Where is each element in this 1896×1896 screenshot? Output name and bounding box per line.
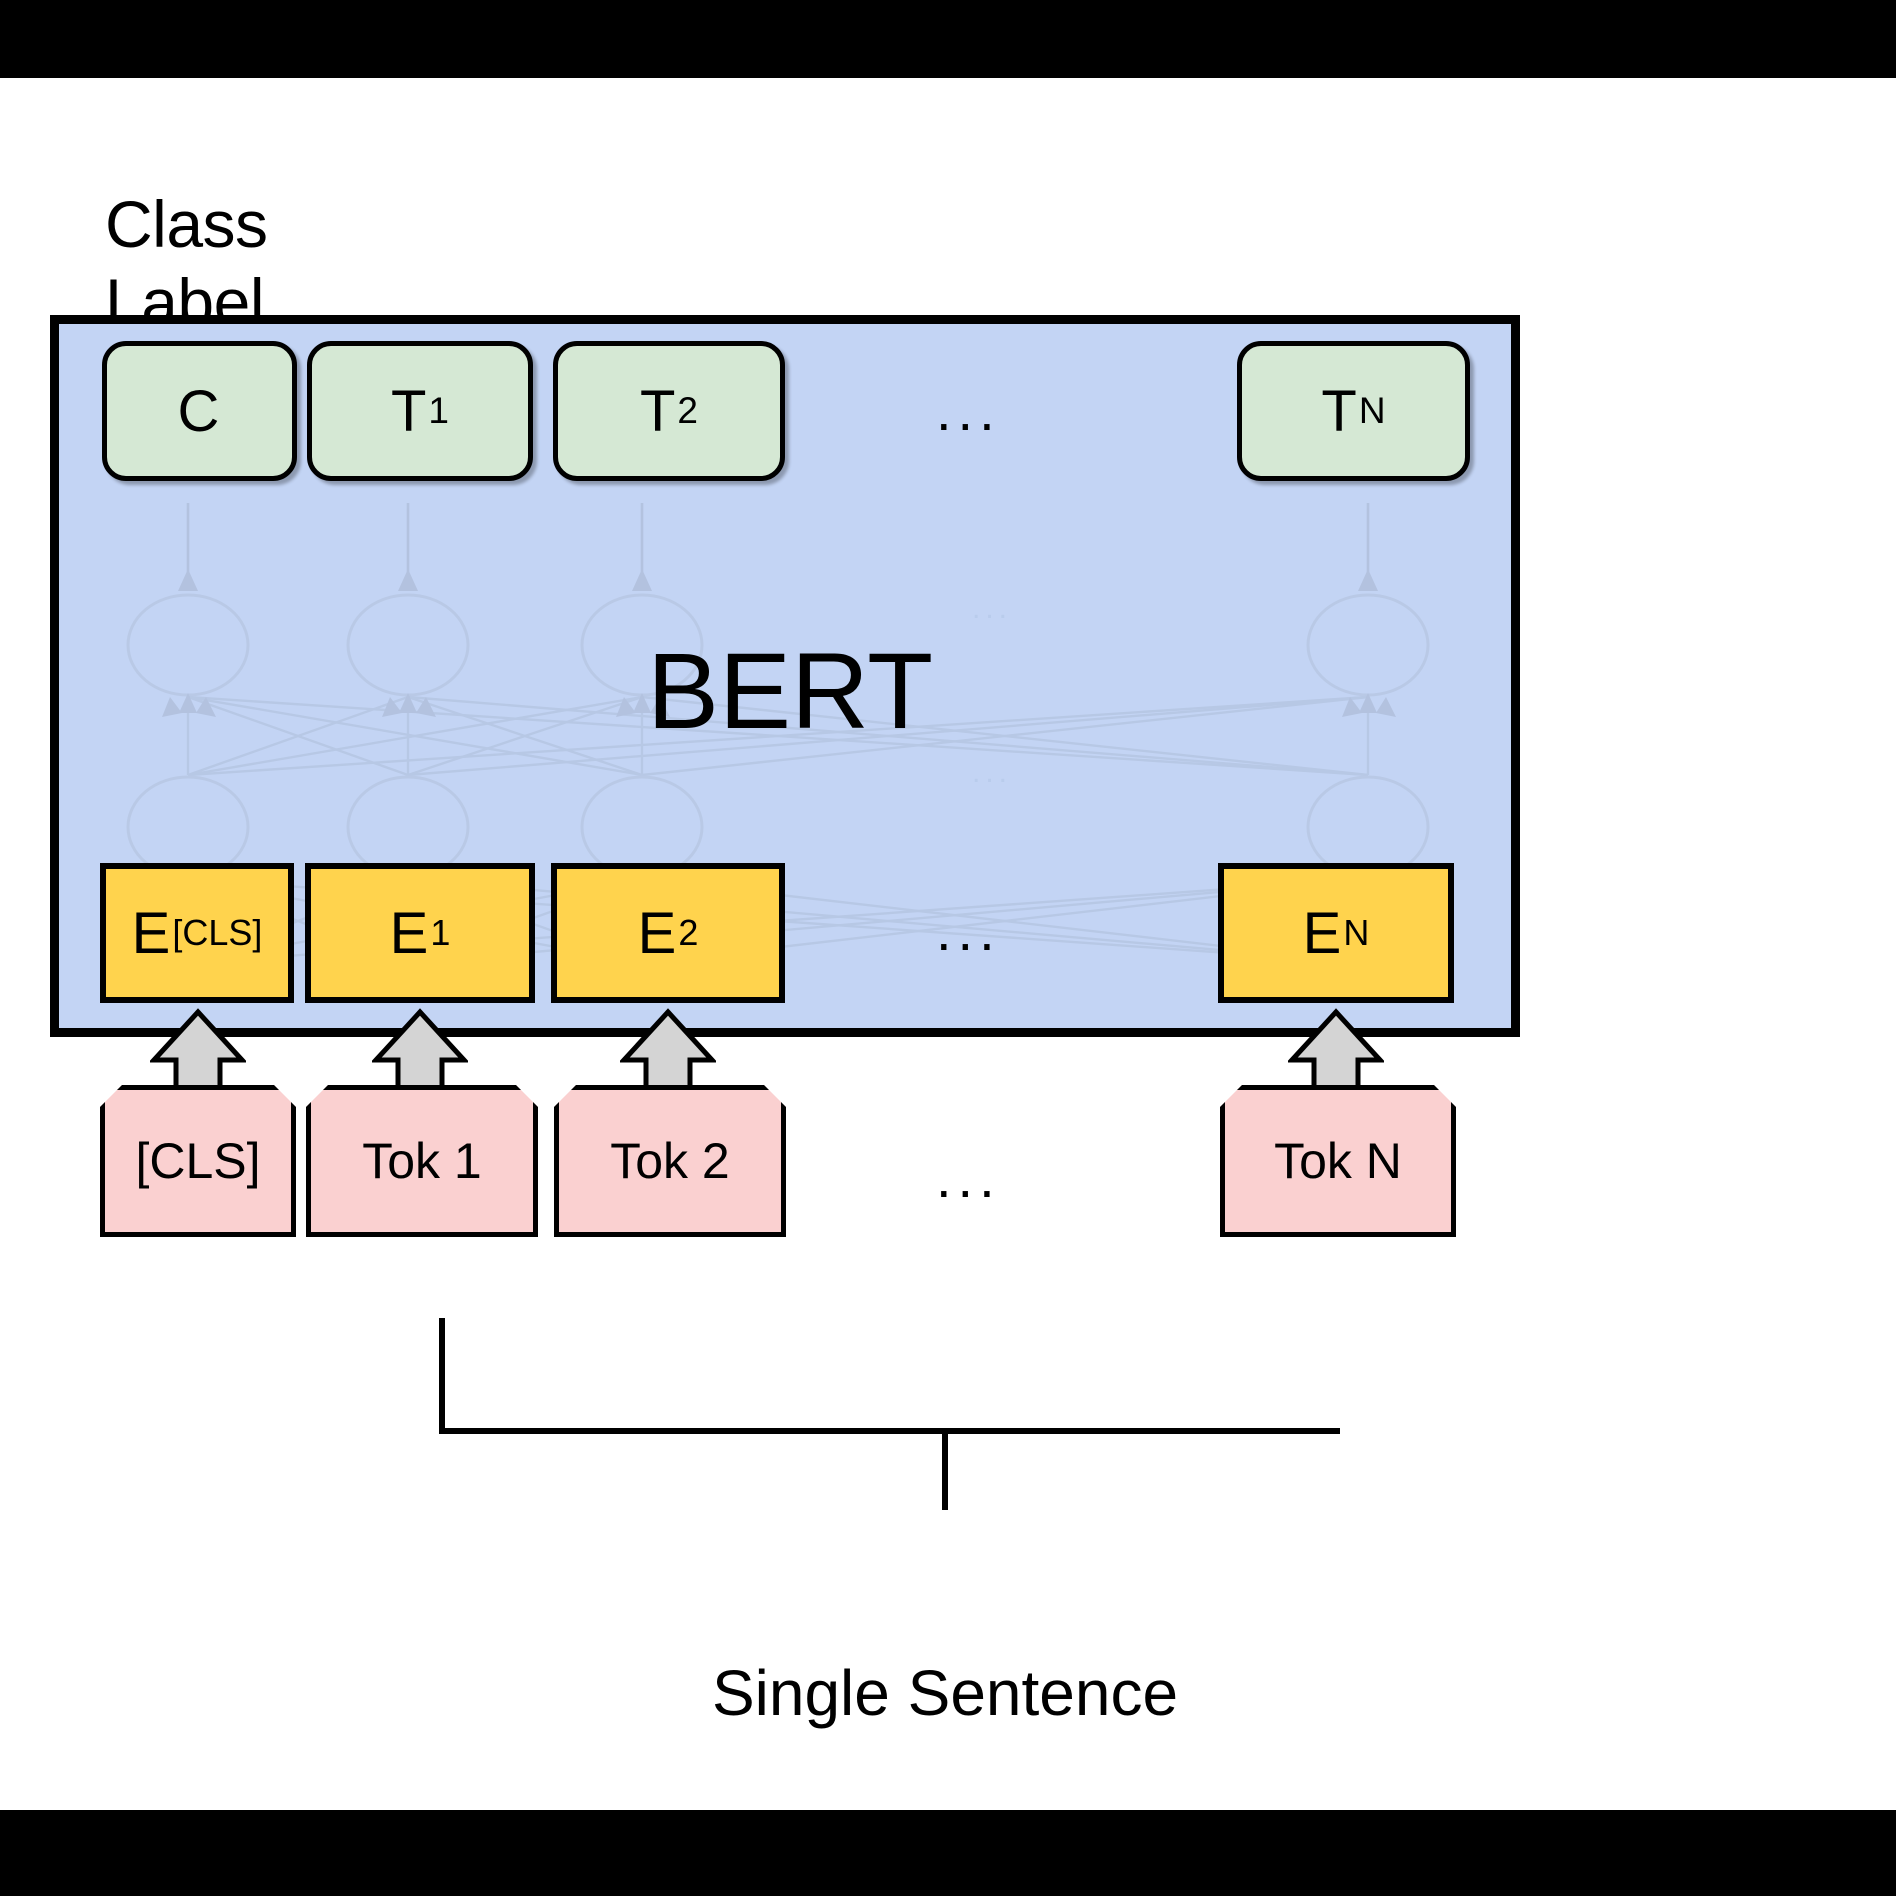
- output-box-c-base: C: [178, 378, 220, 445]
- output-row-ellipsis: ...: [936, 383, 1001, 439]
- sentence-bracket: [380, 1318, 1440, 1518]
- network-ellipsis-upper: ...: [972, 594, 1012, 624]
- output-box-t2-base: T: [640, 378, 675, 445]
- output-box-t2: T2: [553, 341, 785, 481]
- token-box-n-label: Tok N: [1274, 1132, 1402, 1190]
- token-box-cls-label: [CLS]: [135, 1132, 260, 1190]
- output-box-t2-sub: 2: [677, 390, 698, 432]
- output-box-tn: TN: [1237, 341, 1470, 481]
- token-box-1-label: Tok 1: [362, 1132, 482, 1190]
- token-box-cls: [CLS]: [100, 1085, 296, 1237]
- output-box-t1-sub: 1: [428, 390, 449, 432]
- embedding-box-en: EN: [1218, 863, 1454, 1003]
- embedding-box-cls-sub: [CLS]: [172, 912, 262, 954]
- output-box-t1-base: T: [391, 378, 426, 445]
- bert-model-label: BERT: [640, 628, 940, 753]
- embedding-box-e2-base: E: [638, 900, 677, 967]
- embedding-box-cls-base: E: [132, 900, 171, 967]
- token-box-2: Tok 2: [554, 1085, 786, 1237]
- embedding-row-ellipsis: ...: [936, 903, 1001, 959]
- output-box-tn-base: T: [1321, 378, 1356, 445]
- figure-canvas: Class Label: [0, 78, 1896, 1810]
- output-box-c: C: [102, 341, 297, 481]
- figure-root: Class Label: [0, 0, 1896, 1896]
- token-row-ellipsis: ...: [936, 1150, 1001, 1206]
- embedding-box-cls: E[CLS]: [100, 863, 294, 1003]
- output-box-t1: T1: [307, 341, 533, 481]
- embedding-box-e1: E1: [305, 863, 535, 1003]
- token-box-2-label: Tok 2: [610, 1132, 730, 1190]
- class-label-line-1: Class: [105, 186, 445, 264]
- embedding-box-en-base: E: [1303, 900, 1342, 967]
- network-ellipsis-lower: ...: [972, 758, 1012, 788]
- embedding-box-e2-sub: 2: [678, 912, 698, 954]
- token-box-1: Tok 1: [306, 1085, 538, 1237]
- embedding-box-e2: E2: [551, 863, 785, 1003]
- single-sentence-label: Single Sentence: [445, 1656, 1445, 1730]
- embedding-box-e1-sub: 1: [430, 912, 450, 954]
- output-box-tn-sub: N: [1359, 390, 1386, 432]
- token-box-n: Tok N: [1220, 1085, 1456, 1237]
- embedding-box-e1-base: E: [390, 900, 429, 967]
- embedding-box-en-sub: N: [1343, 912, 1369, 954]
